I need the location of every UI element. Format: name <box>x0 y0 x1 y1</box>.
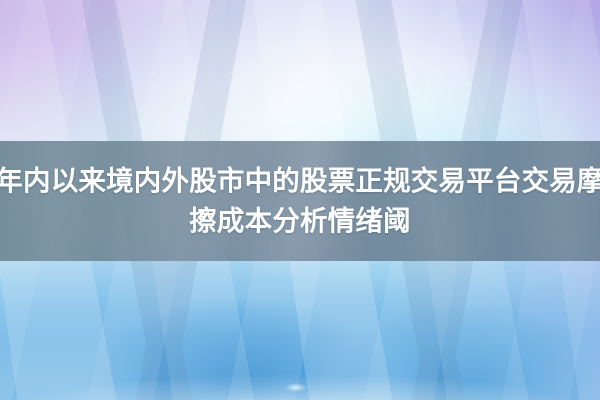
headline-line-1: 年内以来境内外股市中的股票正规交易平台交易摩 <box>0 162 600 200</box>
bottom-light-speck <box>285 383 307 392</box>
headline-line-2: 擦成本分析情绪阈 <box>189 202 411 240</box>
headline-text: 年内以来境内外股市中的股票正规交易平台交易摩 擦成本分析情绪阈 <box>0 141 600 261</box>
banner-image: 年内以来境内外股市中的股票正规交易平台交易摩 擦成本分析情绪阈 <box>0 0 600 400</box>
headline-overlay-band: 年内以来境内外股市中的股票正规交易平台交易摩 擦成本分析情绪阈 <box>0 141 600 261</box>
